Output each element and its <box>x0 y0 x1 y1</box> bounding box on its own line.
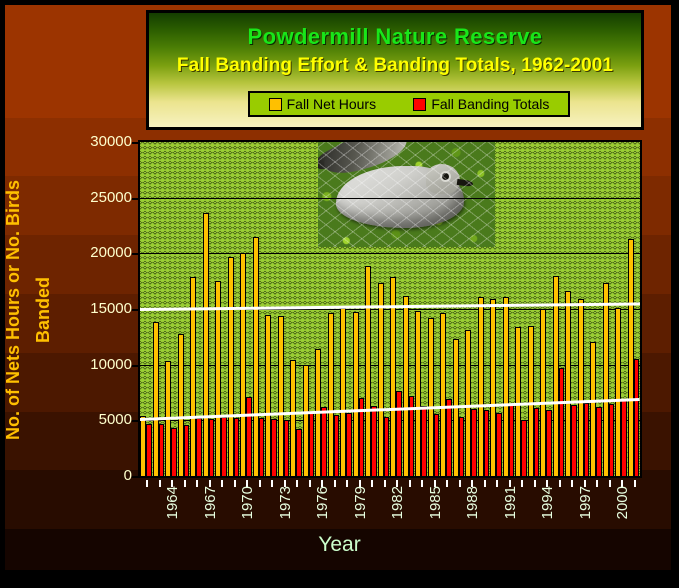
x-tick <box>459 480 461 487</box>
x-tick <box>221 480 223 487</box>
x-axis-title: Year <box>0 533 679 557</box>
title-panel: Powdermill Nature Reserve Fall Banding E… <box>146 10 644 130</box>
x-tick <box>534 480 536 487</box>
bar-banding-totals-1972 <box>271 419 277 476</box>
x-tick <box>159 480 161 487</box>
x-tick <box>309 480 311 487</box>
x-tick <box>609 480 611 487</box>
bar-banding-totals-1964 <box>171 428 177 476</box>
bar-banding-totals-1975 <box>309 411 315 476</box>
x-tick <box>421 480 423 487</box>
x-axis-label: 1964 <box>164 486 181 519</box>
x-axis-label: 1973 <box>277 486 294 519</box>
bar-banding-totals-1981 <box>384 417 390 476</box>
bar-banding-totals-1980 <box>371 406 377 476</box>
x-tick <box>596 480 598 487</box>
bar-banding-totals-1971 <box>259 418 265 476</box>
x-axis-label: 1985 <box>427 486 444 519</box>
x-axis-label: 2000 <box>614 486 631 519</box>
bar-banding-totals-2001 <box>634 359 640 476</box>
x-axis-label: 1970 <box>239 486 256 519</box>
bar-banding-totals-1987 <box>459 417 465 476</box>
y-axis-label: 15000 <box>90 300 132 317</box>
bar-banding-totals-1965 <box>184 425 190 476</box>
bar-banding-totals-1969 <box>234 418 240 476</box>
y-axis-label: 20000 <box>90 244 132 261</box>
x-axis-label: 1997 <box>577 486 594 519</box>
x-axis-label: 1967 <box>202 486 219 519</box>
bar-banding-totals-1989 <box>484 410 490 476</box>
x-axis-label: 1994 <box>539 486 556 519</box>
bar-banding-totals-1974 <box>296 429 302 476</box>
x-tick <box>271 480 273 487</box>
bar-banding-totals-1994 <box>546 410 552 476</box>
bar-banding-totals-1993 <box>534 408 540 476</box>
bar-banding-totals-1999 <box>609 404 615 476</box>
legend-swatch-net-hours <box>269 98 282 111</box>
bar-banding-totals-1963 <box>159 424 165 476</box>
x-tick <box>259 480 261 487</box>
y-axis-label: 5000 <box>99 411 132 428</box>
bar-banding-totals-1986 <box>446 399 452 476</box>
x-tick <box>484 480 486 487</box>
x-axis-label: 1991 <box>502 486 519 519</box>
x-axis-label: 1979 <box>352 486 369 519</box>
bar-banding-totals-1968 <box>221 417 227 476</box>
plot-area <box>138 140 642 478</box>
y-axis-label: 0 <box>124 467 132 484</box>
chart-title-line1: Powdermill Nature Reserve <box>149 24 641 50</box>
bar-banding-totals-1967 <box>209 419 215 476</box>
bar-banding-totals-1973 <box>284 420 290 476</box>
bar-banding-totals-1984 <box>421 406 427 476</box>
x-tick <box>196 480 198 487</box>
mist-net-overlay <box>318 142 495 247</box>
bar-banding-totals-1991 <box>509 405 515 476</box>
x-axis-label: 1982 <box>389 486 406 519</box>
bar-banding-totals-1998 <box>596 407 602 476</box>
bird-photo <box>318 142 495 247</box>
bar-banding-totals-1990 <box>496 413 502 476</box>
bar-banding-totals-1978 <box>346 413 352 476</box>
legend-label-banding-totals: Fall Banding Totals <box>431 96 549 112</box>
bar-banding-totals-1982 <box>396 391 402 476</box>
x-axis-label: 1976 <box>314 486 331 519</box>
x-tick <box>346 480 348 487</box>
chart-title-line2: Fall Banding Effort & Banding Totals, 19… <box>149 55 641 77</box>
bar-banding-totals-2000 <box>621 399 627 476</box>
x-tick <box>409 480 411 487</box>
legend-swatch-banding-totals <box>413 98 426 111</box>
gridline <box>140 253 640 254</box>
x-tick <box>521 480 523 487</box>
bar-banding-totals-1997 <box>584 403 590 476</box>
y-axis-label: 25000 <box>90 189 132 206</box>
chart-legend: Fall Net Hours Fall Banding Totals <box>248 91 570 117</box>
x-tick <box>184 480 186 487</box>
x-tick <box>296 480 298 487</box>
x-tick <box>634 480 636 487</box>
x-tick <box>559 480 561 487</box>
x-tick <box>334 480 336 487</box>
bar-banding-totals-1988 <box>471 409 477 476</box>
x-tick <box>446 480 448 487</box>
bar-banding-totals-1996 <box>571 405 577 476</box>
bar-banding-totals-1995 <box>559 368 565 476</box>
x-tick <box>234 480 236 487</box>
y-axis-label: 30000 <box>90 133 132 150</box>
bar-banding-totals-1962 <box>146 424 152 476</box>
chart-page: Powdermill Nature Reserve Fall Banding E… <box>0 0 679 588</box>
bar-banding-totals-1992 <box>521 420 527 476</box>
y-axis-title: No. of Nets Hours or No. Birds Banded <box>14 165 42 455</box>
gridline <box>140 198 640 199</box>
x-axis-label: 1988 <box>464 486 481 519</box>
legend-item-banding-totals[interactable]: Fall Banding Totals <box>413 96 549 112</box>
legend-label-net-hours: Fall Net Hours <box>287 96 376 112</box>
x-tick <box>571 480 573 487</box>
x-tick <box>371 480 373 487</box>
x-tick <box>496 480 498 487</box>
bar-banding-totals-1966 <box>196 418 202 476</box>
bar-banding-totals-1970 <box>246 397 252 476</box>
x-tick <box>146 480 148 487</box>
x-tick <box>384 480 386 487</box>
y-axis-label: 10000 <box>90 356 132 373</box>
bar-banding-totals-1985 <box>434 414 440 476</box>
bar-banding-totals-1976 <box>321 407 327 476</box>
legend-item-net-hours[interactable]: Fall Net Hours <box>269 96 376 112</box>
bar-banding-totals-1977 <box>334 415 340 476</box>
